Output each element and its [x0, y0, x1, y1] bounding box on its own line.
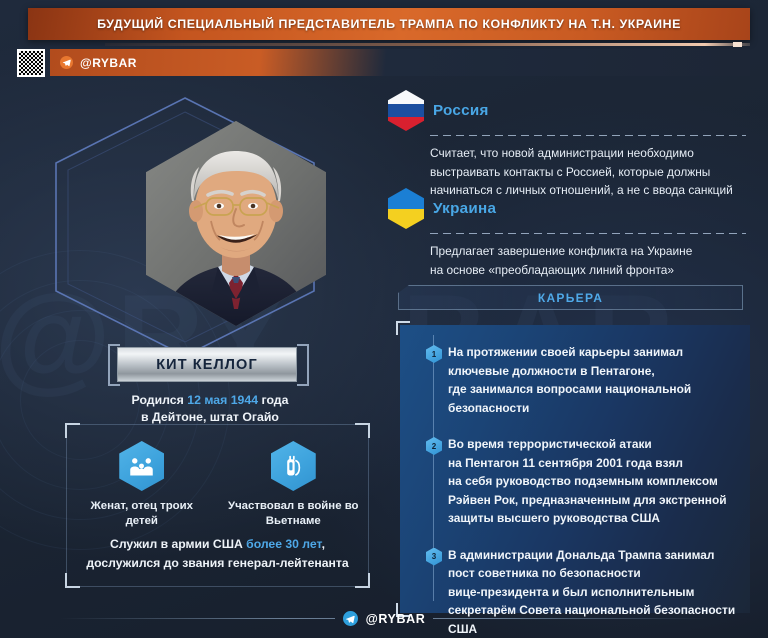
russia-flag-icon — [388, 90, 424, 131]
service-info: Служил в армии США более 30 лет, дослужи… — [74, 535, 361, 573]
header-channel-label: @RYBAR — [80, 56, 137, 70]
infographic-root: @RY BAR БУДУЩИЙ СПЕЦИАЛЬНЫЙ ПРЕДСТАВИТЕЛ… — [0, 0, 768, 638]
divider — [430, 135, 746, 136]
career-item-number: 3 — [426, 548, 442, 566]
footer-rule-right — [433, 618, 708, 619]
footer-rule-left — [60, 618, 335, 619]
header-underline — [105, 43, 750, 46]
divider — [430, 233, 746, 234]
career-item-text: Во время террористической атаки на Пента… — [448, 435, 740, 528]
header-title-bar: БУДУЩИЙ СПЕЦИАЛЬНЫЙ ПРЕДСТАВИТЕЛЬ ТРАМПА… — [28, 8, 750, 40]
career-panel: 1 На протяжении своей карьеры занимал кл… — [400, 325, 750, 613]
nameplate-bracket-right — [297, 344, 309, 386]
position-text: Предлагает завершение конфликта на Украи… — [430, 242, 750, 279]
career-item-number: 1 — [426, 345, 442, 363]
personal-info-panel: Женат, отец троих детей Участвовал в вой… — [66, 424, 369, 587]
country-label: Украина — [433, 200, 496, 217]
career-item: 1 На протяжении своей карьеры занимал кл… — [448, 343, 740, 417]
footer-channel-label: @RYBAR — [366, 612, 426, 626]
career-heading-bar: КАРЬЕРА — [398, 285, 743, 310]
telegram-icon — [343, 611, 358, 626]
qr-code-icon — [17, 49, 45, 77]
profile-name: КИТ КЕЛЛОГ — [156, 357, 258, 373]
service-suffix: , — [322, 537, 325, 551]
birth-date: 12 мая 1944 — [187, 393, 258, 407]
service-prefix: Служил в армии США — [110, 537, 246, 551]
position-russia: Россия Считает, что новой администрации … — [388, 90, 750, 200]
page-title: БУДУЩИЙ СПЕЦИАЛЬНЫЙ ПРЕДСТАВИТЕЛЬ ТРАМПА… — [97, 17, 681, 31]
country-label: Россия — [433, 102, 489, 119]
service-highlight: более 30 лет — [246, 537, 321, 551]
career-item-text: На протяжении своей карьеры занимал ключ… — [448, 343, 740, 417]
footer: @RYBAR — [0, 611, 768, 626]
header-channel-bar: @RYBAR — [50, 49, 750, 76]
career-item-number: 2 — [426, 437, 442, 455]
birth-info: Родился 12 мая 1944 года в Дейтоне, штат… — [60, 392, 360, 426]
position-ukraine: Украина Предлагает завершение конфликта … — [388, 188, 750, 279]
service-line2: дослужился до звания генерал-лейтенанта — [86, 556, 348, 570]
profile-photo — [146, 121, 326, 326]
career-heading: КАРЬЕРА — [538, 291, 603, 305]
birth-prefix: Родился — [132, 393, 188, 407]
telegram-icon — [60, 56, 73, 69]
birth-date-line: Родился 12 мая 1944 года — [60, 392, 360, 409]
career-item: 2 Во время террористической атаки на Пен… — [448, 435, 740, 528]
ukraine-flag-icon — [388, 188, 424, 229]
profile-name-plate: КИТ КЕЛЛОГ — [117, 347, 297, 382]
birth-suffix: года — [258, 393, 288, 407]
